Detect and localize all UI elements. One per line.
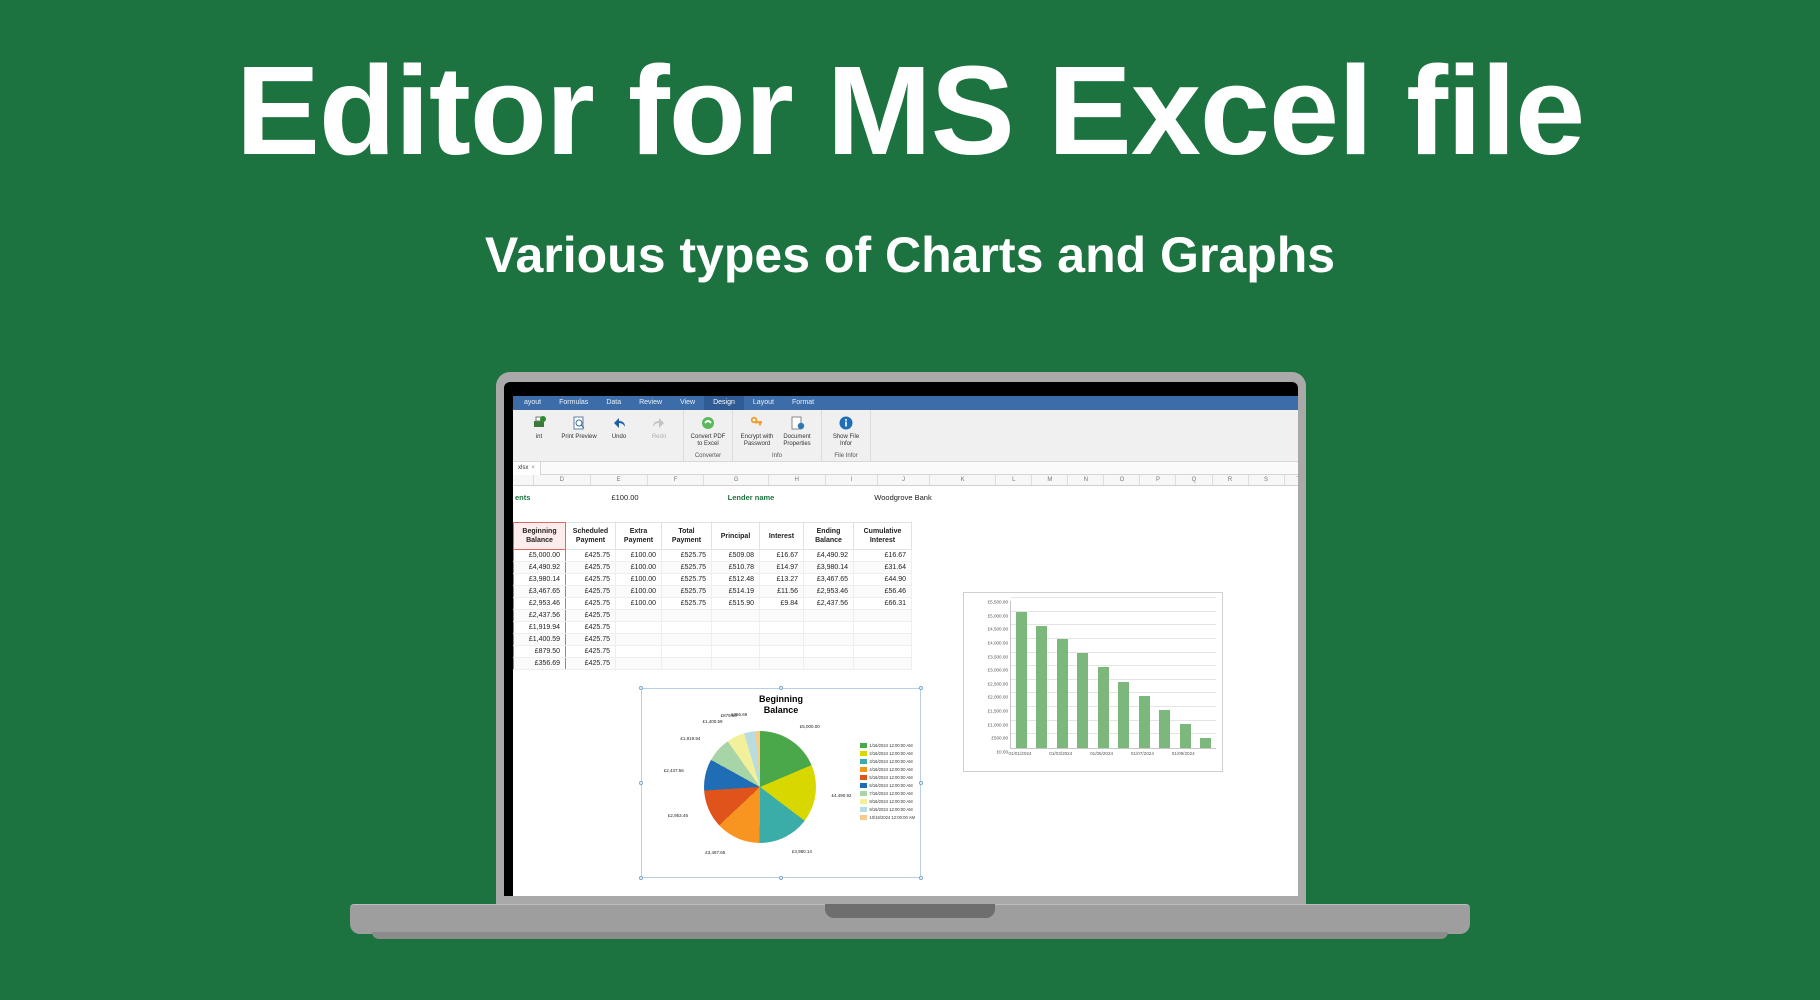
legend-swatch bbox=[860, 799, 867, 804]
table-cell[interactable]: £512.48 bbox=[712, 574, 760, 586]
table-row[interactable]: £2,437.56£425.75 bbox=[514, 610, 912, 622]
legend-label: 4/16/2024 12:00:00 AM bbox=[869, 767, 912, 772]
laptop-screen: ayoutFormulasDataReviewViewDesignLayoutF… bbox=[504, 382, 1298, 896]
document-tab[interactable]: xlsx × bbox=[513, 462, 541, 475]
encrypt-with-password-button[interactable]: Encrypt with Password bbox=[737, 413, 777, 448]
undo-icon bbox=[611, 413, 627, 433]
table-cell[interactable] bbox=[662, 634, 712, 646]
pie-data-label: £3,980.14 bbox=[792, 849, 812, 854]
legend-label: 8/16/2024 12:00:00 AM bbox=[869, 799, 912, 804]
table-cell[interactable] bbox=[662, 658, 712, 670]
column-header-E[interactable]: E bbox=[591, 475, 648, 485]
table-cell[interactable]: £425.75 bbox=[566, 646, 616, 658]
column-header-M[interactable]: M bbox=[1032, 475, 1068, 485]
pie-data-label: £4,490.92 bbox=[831, 793, 851, 798]
table-cell[interactable] bbox=[760, 646, 804, 658]
table-cell[interactable]: £525.75 bbox=[662, 574, 712, 586]
table-cell[interactable]: £31.64 bbox=[854, 562, 912, 574]
bar bbox=[1159, 710, 1170, 748]
table-cell[interactable]: £425.75 bbox=[566, 634, 616, 646]
table-cell[interactable]: £100.00 bbox=[616, 574, 662, 586]
column-header-cumulative-interest[interactable]: Cumulative Interest bbox=[854, 523, 912, 550]
table-cell[interactable]: £56.46 bbox=[854, 586, 912, 598]
spreadsheet-column-headers: DEFGHIJKLMNOPQRST bbox=[513, 475, 1298, 486]
y-axis-tick-label: £3,500.00 bbox=[988, 654, 1008, 659]
table-cell[interactable]: £66.31 bbox=[854, 598, 912, 610]
bar bbox=[1077, 653, 1088, 748]
ribbon-button-label: Show File Infor bbox=[826, 434, 866, 448]
column-header-corner[interactable] bbox=[513, 475, 534, 485]
table-cell[interactable]: £5,000.00 bbox=[514, 550, 566, 562]
table-cell[interactable]: £11.56 bbox=[760, 586, 804, 598]
bar-chart-x-axis: 01/01/202401/03/202401/05/202401/07/2024… bbox=[1010, 751, 1216, 767]
table-cell[interactable]: £425.75 bbox=[566, 550, 616, 562]
resize-handle[interactable] bbox=[919, 781, 923, 785]
resize-handle[interactable] bbox=[639, 686, 643, 690]
document-tab-bar: xlsx × bbox=[513, 462, 1298, 475]
ribbon-group-converter: Convert PDF to ExcelConverter bbox=[684, 410, 733, 461]
laptop-lid: ayoutFormulasDataReviewViewDesignLayoutF… bbox=[496, 372, 1306, 908]
table-cell[interactable]: £3,980.14 bbox=[804, 562, 854, 574]
table-cell[interactable]: £1,400.59 bbox=[514, 634, 566, 646]
table-cell[interactable]: £2,437.56 bbox=[804, 598, 854, 610]
y-axis-tick-label: £5,500.00 bbox=[988, 600, 1008, 605]
column-header-S[interactable]: S bbox=[1249, 475, 1285, 485]
table-row[interactable]: £3,980.14£425.75£100.00£525.75£512.48£13… bbox=[514, 574, 912, 586]
legend-swatch bbox=[860, 751, 867, 756]
table-cell[interactable] bbox=[662, 646, 712, 658]
legend-item: 6/16/2024 12:00:00 AM bbox=[860, 781, 915, 789]
column-header-K[interactable]: K bbox=[930, 475, 996, 485]
table-cell[interactable]: £515.90 bbox=[712, 598, 760, 610]
table-cell[interactable] bbox=[804, 634, 854, 646]
legend-swatch bbox=[860, 759, 867, 764]
beginning-balance-pie-chart[interactable]: BeginningBalance £5,000.00£4,490.92£3,98… bbox=[641, 688, 921, 878]
bar bbox=[1098, 667, 1109, 748]
ribbon-button-label: int bbox=[536, 434, 542, 441]
table-cell[interactable]: £879.50 bbox=[514, 646, 566, 658]
convert-pdf-to-excel-button[interactable]: Convert PDF to Excel bbox=[688, 413, 728, 448]
lender-name-label: Lender name bbox=[717, 493, 785, 502]
legend-label: 2/16/2024 12:00:00 AM bbox=[869, 751, 912, 756]
legend-label: 7/16/2024 12:00:00 AM bbox=[869, 791, 912, 796]
table-cell[interactable] bbox=[662, 610, 712, 622]
table-cell[interactable] bbox=[854, 658, 912, 670]
y-axis-tick-label: £4,500.00 bbox=[988, 627, 1008, 632]
ribbon-button-label: Document Properties bbox=[777, 434, 817, 448]
ribbon-group-label: File Infor bbox=[822, 451, 870, 461]
x-axis-tick-label: 01/09/2024 bbox=[1172, 751, 1195, 756]
amortization-table[interactable]: Beginning BalanceScheduled PaymentExtra … bbox=[513, 522, 912, 670]
table-cell[interactable]: £525.75 bbox=[662, 562, 712, 574]
table-cell[interactable] bbox=[760, 610, 804, 622]
table-row[interactable]: £2,953.46£425.75£100.00£525.75£515.90£9.… bbox=[514, 598, 912, 610]
pie-data-label: £356.69 bbox=[731, 712, 747, 717]
legend-swatch bbox=[860, 791, 867, 796]
resize-handle[interactable] bbox=[919, 876, 923, 880]
ribbon-group-label: Converter bbox=[684, 451, 732, 461]
column-header-O[interactable]: O bbox=[1104, 475, 1140, 485]
print-preview-icon bbox=[571, 413, 587, 433]
table-cell[interactable]: £4,490.92 bbox=[514, 562, 566, 574]
ribbon-group-main: intPrint PreviewUndoRedo bbox=[515, 410, 684, 461]
column-header-ending-balance[interactable]: Ending Balance bbox=[804, 523, 854, 550]
legend-label: 6/16/2024 12:00:00 AM bbox=[869, 783, 912, 788]
bar bbox=[1016, 612, 1027, 748]
undo-button[interactable]: Undo bbox=[599, 413, 639, 441]
table-cell[interactable]: £9.84 bbox=[760, 598, 804, 610]
column-header-P[interactable]: P bbox=[1140, 475, 1176, 485]
beginning-balance-bar-chart[interactable]: £0.00£500.00£1,000.00£1,500.00£2,000.00£… bbox=[963, 592, 1223, 772]
x-axis-tick-label: 01/03/2024 bbox=[1049, 751, 1072, 756]
laptop-notch bbox=[825, 904, 995, 918]
table-cell[interactable] bbox=[616, 658, 662, 670]
ribbon-button-label: Redo bbox=[652, 434, 666, 441]
table-cell[interactable] bbox=[854, 634, 912, 646]
ribbon-group-label: Info bbox=[733, 451, 821, 461]
redo-button: Redo bbox=[639, 413, 679, 441]
table-cell[interactable] bbox=[712, 622, 760, 634]
table-row[interactable]: £5,000.00£425.75£100.00£525.75£509.08£16… bbox=[514, 550, 912, 562]
y-axis-tick-label: £4,000.00 bbox=[988, 640, 1008, 645]
table-cell[interactable] bbox=[616, 610, 662, 622]
resize-handle[interactable] bbox=[779, 686, 783, 690]
legend-item: 2/16/2024 12:00:00 AM bbox=[860, 749, 915, 757]
table-body[interactable]: £5,000.00£425.75£100.00£525.75£509.08£16… bbox=[514, 550, 912, 670]
document-tab-label: xlsx bbox=[518, 465, 528, 471]
legend-item: 8/16/2024 12:00:00 AM bbox=[860, 797, 915, 805]
ribbon-button-label: Convert PDF to Excel bbox=[688, 434, 728, 448]
bar-series bbox=[1011, 601, 1216, 748]
legend-item: 3/16/2024 12:00:00 AM bbox=[860, 757, 915, 765]
table-cell[interactable]: £425.75 bbox=[566, 562, 616, 574]
table-cell[interactable]: £100.00 bbox=[616, 598, 662, 610]
column-header-beginning-balance[interactable]: Beginning Balance bbox=[514, 523, 566, 550]
table-row[interactable]: £3,467.65£425.75£100.00£525.75£514.19£11… bbox=[514, 586, 912, 598]
table-row[interactable]: £356.69£425.75 bbox=[514, 658, 912, 670]
table-cell[interactable]: £525.75 bbox=[662, 550, 712, 562]
table-cell[interactable]: £425.75 bbox=[566, 574, 616, 586]
pie-data-label: £2,953.46 bbox=[668, 813, 688, 818]
table-cell[interactable]: £2,953.46 bbox=[804, 586, 854, 598]
table-cell[interactable] bbox=[662, 622, 712, 634]
legend-item: 4/16/2024 12:00:00 AM bbox=[860, 765, 915, 773]
y-axis-tick-label: £0.00 bbox=[997, 750, 1009, 755]
pie-data-label: £5,000.00 bbox=[800, 724, 820, 729]
legend-item: 10/16/2024 12:00:00 AM bbox=[860, 813, 915, 821]
lender-name-value: Woodgrove Bank bbox=[863, 493, 943, 502]
legend-item: 9/16/2024 12:00:00 AM bbox=[860, 805, 915, 813]
y-axis-tick-label: £5,000.00 bbox=[988, 613, 1008, 618]
legend-label: 10/16/2024 12:00:00 AM bbox=[869, 815, 915, 820]
table-cell[interactable]: £425.75 bbox=[566, 658, 616, 670]
column-header-T[interactable]: T bbox=[1285, 475, 1298, 485]
table-cell[interactable] bbox=[804, 610, 854, 622]
bar bbox=[1057, 639, 1068, 748]
table-cell[interactable]: £425.75 bbox=[566, 586, 616, 598]
legend-swatch bbox=[860, 775, 867, 780]
x-axis-tick-label: 01/05/2024 bbox=[1090, 751, 1113, 756]
legend-swatch bbox=[860, 783, 867, 788]
table-cell[interactable]: £525.75 bbox=[662, 598, 712, 610]
table-cell[interactable]: £425.75 bbox=[566, 610, 616, 622]
table-cell[interactable]: £514.19 bbox=[712, 586, 760, 598]
extra-payments-label: ents bbox=[515, 493, 530, 502]
y-axis-tick-label: £1,500.00 bbox=[988, 709, 1008, 714]
bar bbox=[1200, 738, 1211, 748]
pie-chart-plot-area bbox=[704, 731, 816, 843]
legend-label: 9/16/2024 12:00:00 AM bbox=[869, 807, 912, 812]
table-cell[interactable]: £2,953.46 bbox=[514, 598, 566, 610]
bar bbox=[1180, 724, 1191, 748]
ribbon-tab-view[interactable]: View bbox=[671, 396, 704, 410]
ribbon-tab-bar: ayoutFormulasDataReviewViewDesignLayoutF… bbox=[513, 396, 1298, 410]
column-header-scheduled-payment[interactable]: Scheduled Payment bbox=[566, 523, 616, 550]
ribbon-tab-ayout[interactable]: ayout bbox=[515, 396, 550, 410]
table-cell[interactable] bbox=[712, 658, 760, 670]
column-header-I[interactable]: I bbox=[826, 475, 878, 485]
column-header-interest[interactable]: Interest bbox=[760, 523, 804, 550]
legend-label: 5/16/2024 12:00:00 AM bbox=[869, 775, 912, 780]
redo-icon bbox=[651, 413, 667, 433]
table-cell[interactable]: £13.27 bbox=[760, 574, 804, 586]
table-cell[interactable]: £100.00 bbox=[616, 550, 662, 562]
table-cell[interactable]: £509.08 bbox=[712, 550, 760, 562]
column-header-D[interactable]: D bbox=[534, 475, 591, 485]
excel-editor-app: ayoutFormulasDataReviewViewDesignLayoutF… bbox=[513, 396, 1298, 896]
table-cell[interactable] bbox=[854, 646, 912, 658]
bar bbox=[1036, 626, 1047, 748]
table-cell[interactable] bbox=[712, 610, 760, 622]
table-cell[interactable] bbox=[760, 634, 804, 646]
table-cell[interactable] bbox=[712, 634, 760, 646]
table-cell[interactable] bbox=[760, 622, 804, 634]
ribbon-button-label: Undo bbox=[612, 434, 626, 441]
ribbon-group-info: Encrypt with PasswordDocument Properties… bbox=[733, 410, 822, 461]
laptop-mockup: ayoutFormulasDataReviewViewDesignLayoutF… bbox=[350, 372, 1470, 942]
legend-swatch bbox=[860, 807, 867, 812]
table-cell[interactable] bbox=[804, 658, 854, 670]
x-axis-tick-label: 01/01/2024 bbox=[1009, 751, 1032, 756]
pie-chart-legend: 1/16/2024 12:00:00 AM2/16/2024 12:00:00 … bbox=[860, 741, 915, 821]
table-cell[interactable]: £4,490.92 bbox=[804, 550, 854, 562]
resize-handle[interactable] bbox=[919, 686, 923, 690]
table-cell[interactable]: £3,980.14 bbox=[514, 574, 566, 586]
hero-banner: Editor for MS Excel file Various types o… bbox=[0, 0, 1820, 284]
show-file-infor-button[interactable]: Show File Infor bbox=[826, 413, 866, 448]
table-cell[interactable]: £425.75 bbox=[566, 622, 616, 634]
table-cell[interactable] bbox=[712, 646, 760, 658]
page-subtitle: Various types of Charts and Graphs bbox=[0, 226, 1820, 284]
table-cell[interactable]: £3,467.65 bbox=[804, 574, 854, 586]
int-button[interactable]: int bbox=[519, 413, 559, 441]
legend-item: 7/16/2024 12:00:00 AM bbox=[860, 789, 915, 797]
ribbon-group-label bbox=[515, 451, 683, 461]
column-header-L[interactable]: L bbox=[996, 475, 1032, 485]
table-cell[interactable]: £425.75 bbox=[566, 598, 616, 610]
column-header-total-payment[interactable]: Total Payment bbox=[662, 523, 712, 550]
ribbon-body: intPrint PreviewUndoRedoConvert PDF to E… bbox=[513, 410, 1298, 462]
table-cell[interactable]: £16.67 bbox=[854, 550, 912, 562]
bar-chart-y-axis: £0.00£500.00£1,000.00£1,500.00£2,000.00£… bbox=[966, 601, 1010, 749]
table-cell[interactable]: £1,919.94 bbox=[514, 622, 566, 634]
bar-chart-plot-area bbox=[1010, 601, 1216, 749]
legend-label: 3/16/2024 12:00:00 AM bbox=[869, 759, 912, 764]
column-header-N[interactable]: N bbox=[1068, 475, 1104, 485]
table-cell[interactable]: £100.00 bbox=[616, 562, 662, 574]
pie-data-label: £2,437.56 bbox=[664, 768, 684, 773]
laptop-foot bbox=[372, 932, 1448, 939]
ribbon-tab-design[interactable]: Design bbox=[704, 396, 744, 410]
ribbon-button-label: Encrypt with Password bbox=[737, 434, 777, 448]
ribbon-tab-format[interactable]: Format bbox=[783, 396, 823, 410]
ribbon-tab-review[interactable]: Review bbox=[630, 396, 671, 410]
spreadsheet-canvas[interactable]: ents£100.00Lender nameWoodgrove Bank Beg… bbox=[513, 486, 1298, 896]
table-cell[interactable] bbox=[854, 610, 912, 622]
pie-data-label: £1,400.59 bbox=[703, 719, 723, 724]
gridline bbox=[1011, 597, 1216, 598]
x-axis-tick-label: 01/07/2024 bbox=[1131, 751, 1154, 756]
table-cell[interactable]: £525.75 bbox=[662, 586, 712, 598]
table-row[interactable]: £4,490.92£425.75£100.00£525.75£510.78£14… bbox=[514, 562, 912, 574]
column-header-J[interactable]: J bbox=[878, 475, 930, 485]
y-axis-tick-label: £500.00 bbox=[991, 736, 1008, 741]
pie-data-label: £1,919.94 bbox=[680, 736, 700, 741]
resize-handle[interactable] bbox=[779, 876, 783, 880]
column-header-Q[interactable]: Q bbox=[1176, 475, 1212, 485]
convert-pdf-icon bbox=[700, 413, 716, 433]
table-cell[interactable]: £510.78 bbox=[712, 562, 760, 574]
legend-label: 1/16/2024 12:00:00 AM bbox=[869, 743, 912, 748]
y-axis-tick-label: £2,500.00 bbox=[988, 681, 1008, 686]
y-axis-tick-label: £3,000.00 bbox=[988, 668, 1008, 673]
ribbon-tab-data[interactable]: Data bbox=[597, 396, 630, 410]
column-header-extra-payment[interactable]: Extra Payment bbox=[616, 523, 662, 550]
close-icon[interactable]: × bbox=[531, 465, 535, 471]
table-cell[interactable]: £14.97 bbox=[760, 562, 804, 574]
print-icon bbox=[531, 413, 547, 433]
ribbon-tab-formulas[interactable]: Formulas bbox=[550, 396, 597, 410]
pie-chart-title: BeginningBalance bbox=[642, 689, 920, 716]
table-cell[interactable]: £100.00 bbox=[616, 586, 662, 598]
info-row: ents£100.00Lender nameWoodgrove Bank bbox=[513, 486, 1298, 508]
column-header-G[interactable]: G bbox=[704, 475, 768, 485]
document-properties-button[interactable]: Document Properties bbox=[777, 413, 817, 448]
table-row[interactable]: £1,400.59£425.75 bbox=[514, 634, 912, 646]
info-circle-icon bbox=[838, 413, 854, 433]
column-header-H[interactable]: H bbox=[769, 475, 826, 485]
y-axis-tick-label: £1,000.00 bbox=[988, 722, 1008, 727]
table-cell[interactable] bbox=[804, 646, 854, 658]
pie-disc bbox=[704, 731, 816, 843]
ribbon-button-label: Print Preview bbox=[561, 434, 596, 441]
table-cell[interactable]: £2,437.56 bbox=[514, 610, 566, 622]
table-cell[interactable]: £356.69 bbox=[514, 658, 566, 670]
resize-handle[interactable] bbox=[639, 876, 643, 880]
table-cell[interactable]: £3,467.65 bbox=[514, 586, 566, 598]
table-row[interactable]: £1,919.94£425.75 bbox=[514, 622, 912, 634]
bar bbox=[1139, 696, 1150, 748]
table-row[interactable]: £879.50£425.75 bbox=[514, 646, 912, 658]
bar bbox=[1118, 682, 1129, 748]
pie-data-label: £3,467.65 bbox=[705, 850, 725, 855]
legend-swatch bbox=[860, 815, 867, 820]
y-axis-tick-label: £2,000.00 bbox=[988, 695, 1008, 700]
table-cell[interactable] bbox=[616, 622, 662, 634]
table-cell[interactable] bbox=[616, 634, 662, 646]
table-cell[interactable] bbox=[616, 646, 662, 658]
resize-handle[interactable] bbox=[639, 781, 643, 785]
column-header-R[interactable]: R bbox=[1213, 475, 1249, 485]
print-preview-button[interactable]: Print Preview bbox=[559, 413, 599, 441]
key-lock-icon bbox=[749, 413, 765, 433]
table-cell[interactable]: £44.90 bbox=[854, 574, 912, 586]
page-title: Editor for MS Excel file bbox=[0, 48, 1820, 174]
column-header-F[interactable]: F bbox=[648, 475, 705, 485]
legend-swatch bbox=[860, 767, 867, 772]
document-properties-icon bbox=[789, 413, 805, 433]
table-cell[interactable] bbox=[760, 658, 804, 670]
ribbon-group-file-infor: Show File InforFile Infor bbox=[822, 410, 871, 461]
legend-item: 5/16/2024 12:00:00 AM bbox=[860, 773, 915, 781]
table-cell[interactable] bbox=[804, 622, 854, 634]
ribbon-tab-layout[interactable]: Layout bbox=[744, 396, 783, 410]
column-header-principal[interactable]: Principal bbox=[712, 523, 760, 550]
legend-swatch bbox=[860, 743, 867, 748]
extra-payment-amount: £100.00 bbox=[595, 493, 655, 502]
legend-item: 1/16/2024 12:00:00 AM bbox=[860, 741, 915, 749]
table-header-row: Beginning BalanceScheduled PaymentExtra … bbox=[514, 523, 912, 550]
table-cell[interactable]: £16.67 bbox=[760, 550, 804, 562]
table-cell[interactable] bbox=[854, 622, 912, 634]
